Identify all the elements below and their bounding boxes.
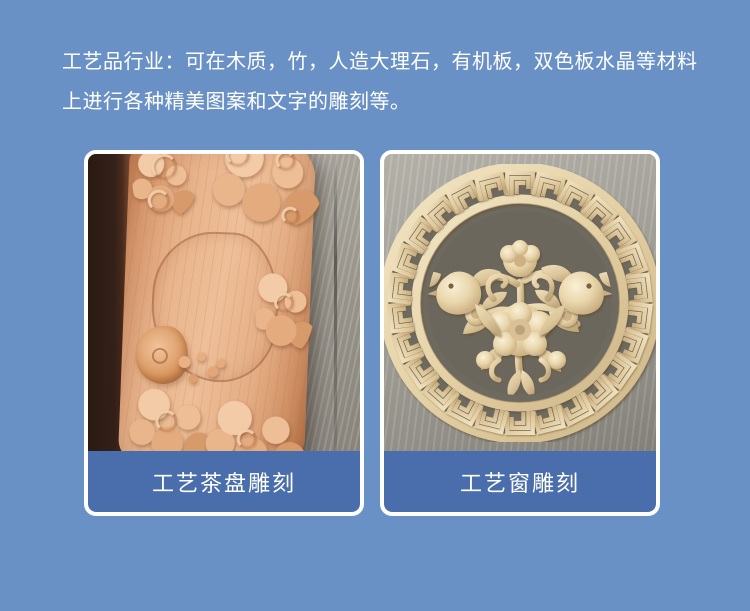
relief-cluster-top-right xyxy=(211,154,325,230)
product-card-row: 工艺茶盘雕刻 xyxy=(84,150,660,516)
tea-tray-photo xyxy=(88,154,360,451)
card-caption-tea-tray: 工艺茶盘雕刻 xyxy=(88,451,360,512)
card-caption-window-carving: 工艺窗雕刻 xyxy=(384,451,656,512)
product-card-tea-tray[interactable]: 工艺茶盘雕刻 xyxy=(84,150,364,516)
window-carving-image xyxy=(384,154,656,451)
window-carving-photo xyxy=(384,154,656,451)
promo-page: 工艺品行业：可在木质，竹，人造大理石，有机板，双色板水晶等材料上进行各种精美图案… xyxy=(0,0,750,611)
intro-paragraph: 工艺品行业：可在木质，竹，人造大理石，有机板，双色板水晶等材料上进行各种精美图案… xyxy=(62,42,702,122)
product-card-window-carving[interactable]: 工艺窗雕刻 xyxy=(380,150,660,516)
wood-slab xyxy=(118,154,316,451)
tea-tray-image xyxy=(88,154,360,451)
relief-dots-cluster xyxy=(160,338,238,399)
carved-disc xyxy=(384,164,656,442)
fretwork-disc-graphic xyxy=(384,164,656,442)
